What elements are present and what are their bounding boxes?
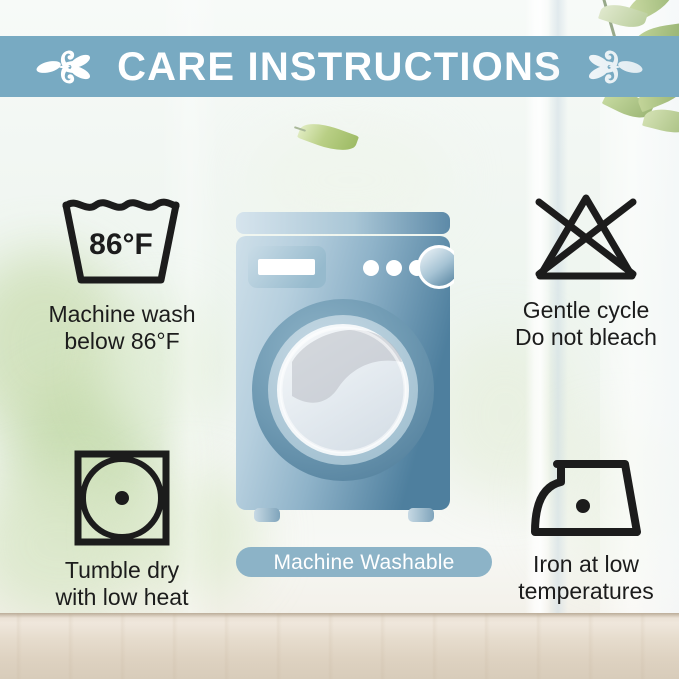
machine-foot (254, 508, 280, 522)
wood-grain (0, 613, 679, 679)
symbol-tumble-dry: Tumble dry with low heat (22, 448, 222, 610)
symbol-machine-wash: 86°F Machine wash below 86°F (22, 196, 222, 354)
indicator-light (386, 260, 402, 276)
care-instructions-infographic: CARE INSTRUCTIONS (0, 0, 679, 679)
do-not-bleach-triangle-icon (528, 188, 644, 288)
tumble-dry-heat-dot (115, 491, 129, 505)
detergent-drawer-slot (258, 259, 315, 275)
machine-top-lid (236, 212, 450, 234)
iron-heat-dot (576, 499, 590, 513)
tumble-dry-icon (72, 448, 172, 548)
fleur-de-lis-icon (35, 44, 93, 90)
fleur-de-lis-icon (586, 44, 644, 90)
iron-icon (527, 456, 645, 542)
machine-washable-badge: Machine Washable (236, 547, 492, 577)
symbol-caption: Tumble dry with low heat (56, 557, 189, 610)
symbol-caption: Machine wash below 86°F (48, 301, 195, 354)
symbol-do-not-bleach: Gentle cycle Do not bleach (492, 188, 679, 350)
header-banner: CARE INSTRUCTIONS (0, 36, 679, 97)
washing-machine-illustration (232, 210, 454, 535)
symbol-caption: Gentle cycle Do not bleach (515, 297, 657, 350)
symbol-iron: Iron at low temperatures (492, 456, 679, 604)
indicator-light (363, 260, 379, 276)
wash-tub-temperature: 86°F (89, 228, 153, 261)
wash-tub-icon: 86°F (58, 196, 186, 292)
wooden-surface (0, 613, 679, 679)
symbol-caption: Iron at low temperatures (518, 551, 654, 604)
banner-title: CARE INSTRUCTIONS (117, 47, 562, 87)
machine-washable-badge-label: Machine Washable (273, 552, 454, 573)
machine-foot (408, 508, 434, 522)
